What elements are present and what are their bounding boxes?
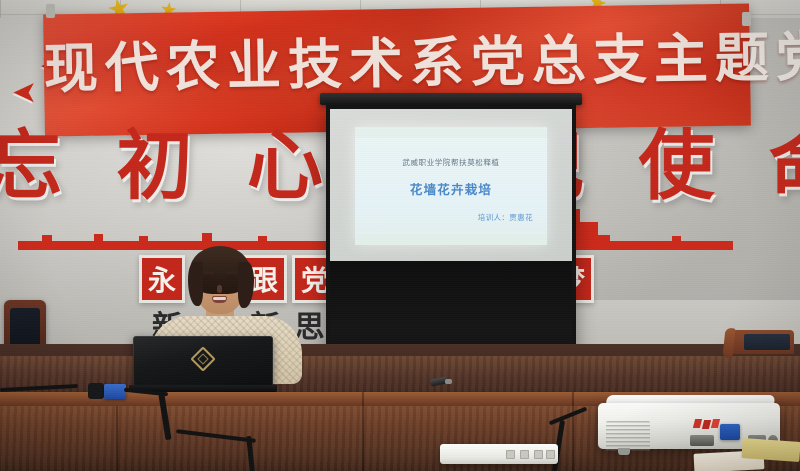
screen-surface: 武威职业学院帮扶莫松释植 花墙花卉栽培 培训人：贾惠花 bbox=[330, 109, 572, 261]
power-socket-4 bbox=[546, 450, 555, 459]
chair-right-cushion bbox=[744, 334, 790, 350]
presenter-eye-right bbox=[227, 276, 235, 279]
power-socket-1 bbox=[506, 450, 515, 459]
slide-header-text: 武威职业学院帮扶莫松释植 bbox=[355, 157, 547, 168]
omen-diamond-logo-icon bbox=[190, 346, 215, 371]
photo-scene: ➤ ➤ 现代农业技术系党总支主题党日 忘 初 心 记 使 命 bbox=[0, 0, 800, 471]
slide-title-text: 花墙花卉栽培 bbox=[355, 179, 547, 198]
projector-brand-logo-icon bbox=[694, 419, 720, 429]
power-socket-3 bbox=[534, 450, 543, 459]
dove-cutout-1: ➤ bbox=[12, 78, 37, 108]
projector-foot-left bbox=[618, 448, 630, 455]
banner-clip-right bbox=[742, 12, 751, 26]
laptop[interactable] bbox=[133, 336, 273, 394]
presenter-brow-right bbox=[226, 271, 237, 274]
slide-band-bottom bbox=[355, 234, 547, 245]
chair-right bbox=[722, 322, 794, 360]
slide-presenter-text: 培训人：贾惠花 bbox=[478, 212, 533, 223]
vga-connector-left bbox=[104, 384, 126, 399]
microphone-tip bbox=[445, 379, 452, 384]
banner-title: 现代农业技术系党总支主题党日 bbox=[43, 13, 750, 103]
projected-slide: 武威职业学院帮扶莫松释植 花墙花卉栽培 培训人：贾惠花 bbox=[355, 127, 547, 245]
power-socket-2 bbox=[520, 450, 529, 459]
presenter-brow-left bbox=[203, 271, 214, 274]
wall-slogan-left: 忘 初 心 bbox=[0, 128, 337, 204]
presenter-eye-left bbox=[204, 276, 212, 279]
banner-clip-left bbox=[46, 4, 55, 18]
presenter-nose bbox=[217, 285, 222, 293]
slide-band-top bbox=[355, 127, 547, 138]
laptop-lid bbox=[133, 336, 273, 386]
vga-connector-projector bbox=[720, 424, 740, 440]
power-strip[interactable] bbox=[440, 444, 558, 464]
screen-housing-bar bbox=[320, 93, 582, 105]
desk-seam-1 bbox=[116, 406, 118, 471]
presenter-hair-right bbox=[238, 262, 254, 308]
cable-adapter-black bbox=[88, 383, 104, 399]
projector-port-hdmi bbox=[690, 435, 714, 446]
folder-yellow bbox=[741, 438, 800, 462]
desk-seam-2 bbox=[362, 392, 364, 471]
presenter-hair-left bbox=[188, 262, 203, 306]
presenter-mouth bbox=[212, 296, 227, 303]
desk-seam-3 bbox=[572, 392, 574, 471]
